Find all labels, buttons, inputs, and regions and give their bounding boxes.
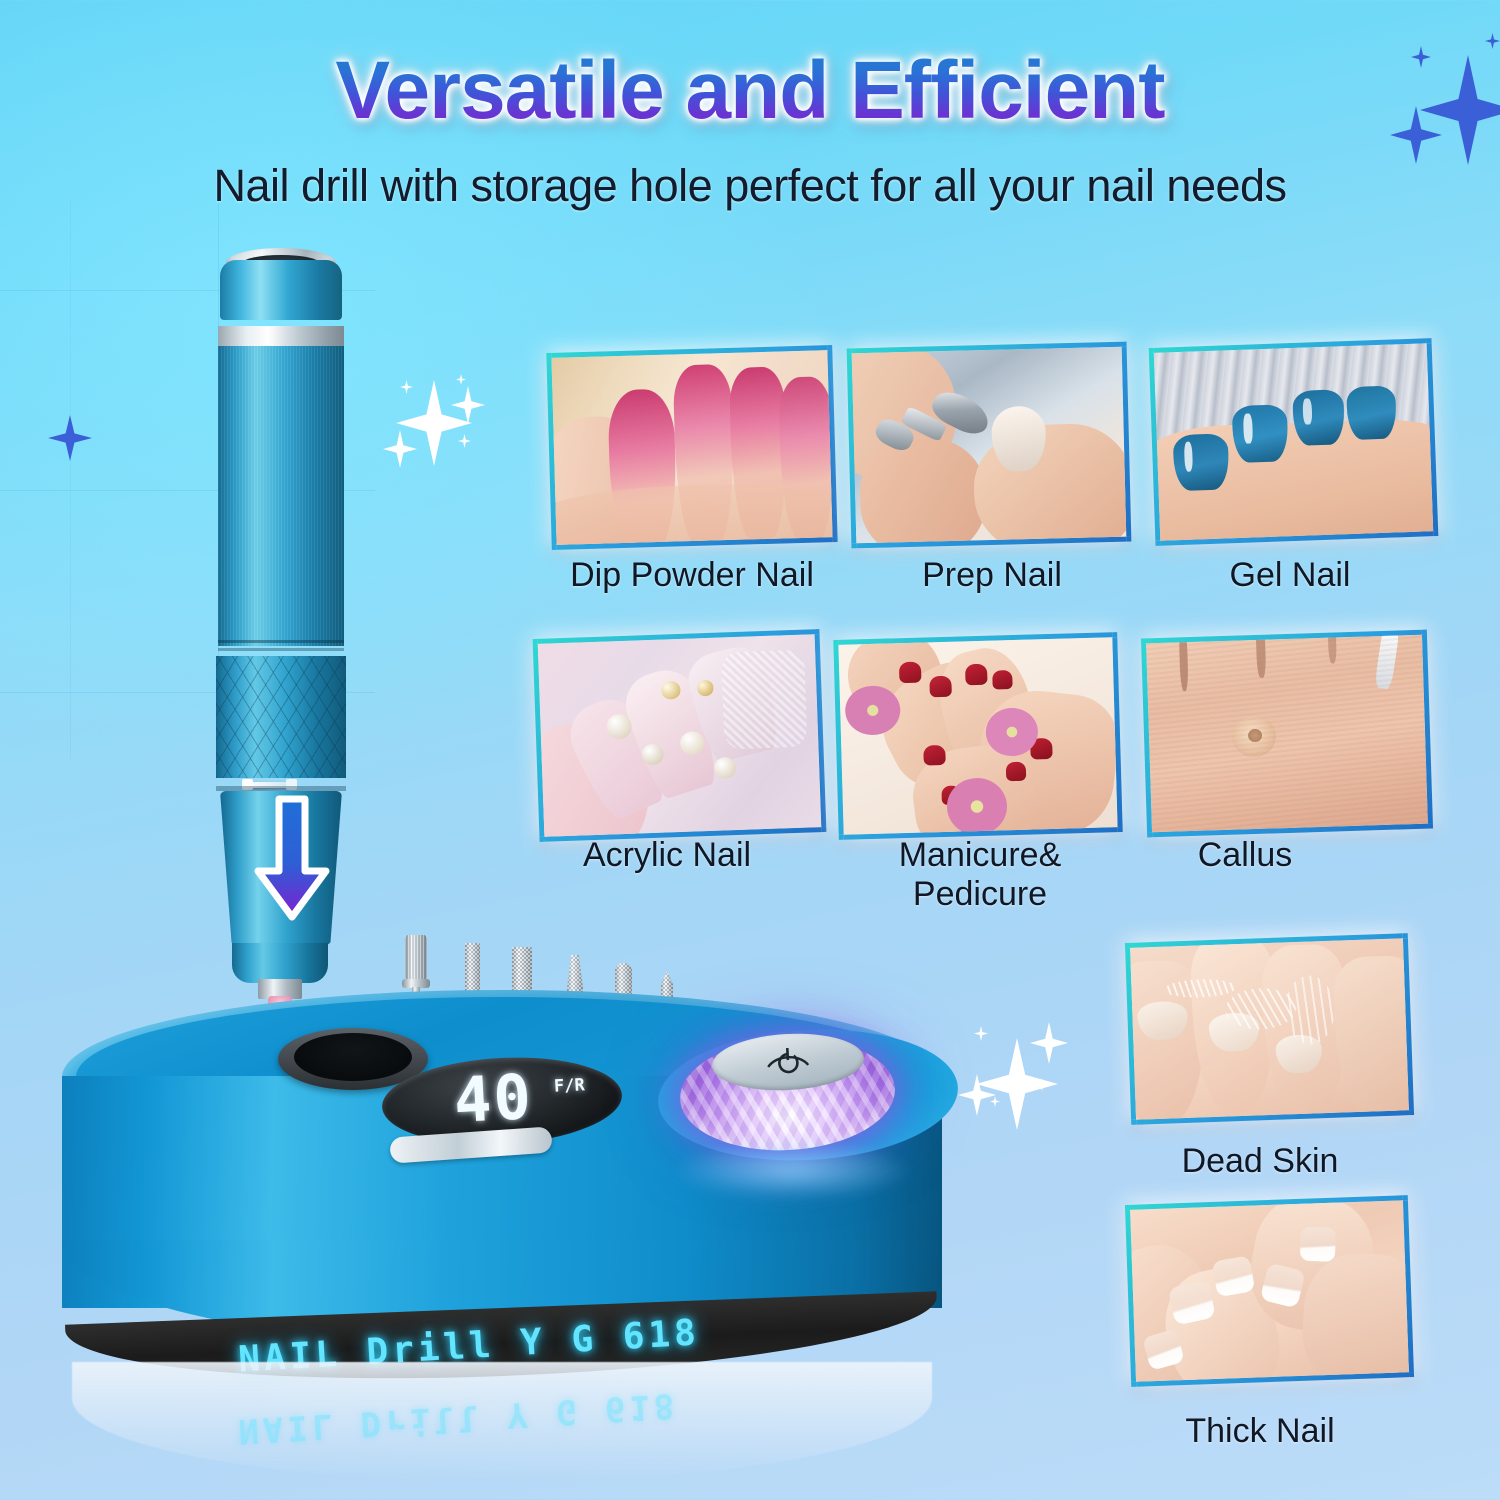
use-case-thumb-dip-powder[interactable] [546, 345, 837, 550]
caption-manicure-pedicure-line1: Manicure& [800, 836, 1160, 875]
use-case-thumb-manicure-pedicure[interactable] [833, 632, 1122, 840]
caption-acrylic: Acrylic Nail [487, 836, 847, 875]
use-case-thumb-callus[interactable] [1141, 630, 1433, 838]
nail-photo-thick-nail [1130, 1200, 1409, 1381]
product-infographic: Versatile and Efficient Nail drill with … [0, 0, 1500, 1500]
nail-drill-pen [190, 248, 400, 1038]
use-case-thumb-thick-nail[interactable] [1125, 1195, 1414, 1387]
down-arrow-icon [248, 793, 336, 923]
display-value: 40 [452, 1060, 534, 1137]
caption-manicure-pedicure-line2: Pedicure [800, 875, 1160, 914]
page-subtitle: Nail drill with storage hole perfect for… [0, 160, 1500, 212]
use-case-thumb-acrylic[interactable] [533, 629, 827, 842]
caption-dead-skin: Dead Skin [1110, 1142, 1410, 1181]
nail-photo-acrylic [538, 634, 822, 837]
page-title: Versatile and Efficient [0, 44, 1500, 138]
display-unit: F/R [553, 1075, 585, 1097]
caption-callus: Callus [1120, 836, 1370, 875]
use-case-thumb-prep[interactable] [847, 342, 1132, 549]
nail-photo-prep [852, 347, 1127, 544]
nail-photo-dip-powder [551, 350, 832, 545]
sparkle-icon-topright [1390, 30, 1500, 180]
nail-photo-callus [1146, 635, 1428, 833]
nail-photo-gel [1154, 343, 1433, 540]
sparkle-icon-right [948, 1022, 1088, 1154]
power-icon [761, 1039, 815, 1086]
nail-photo-dead-skin [1130, 938, 1409, 1119]
use-case-thumb-gel[interactable] [1149, 338, 1439, 546]
sparkle-icon-left [48, 415, 92, 461]
caption-thick-nail: Thick Nail [1110, 1412, 1410, 1451]
nail-drill-base: NAIL Drill Y G 618 NAIL Drill Y G 618 40… [62, 990, 942, 1410]
nail-photo-manicure-pedicure [838, 637, 1117, 835]
use-case-thumb-dead-skin[interactable] [1125, 933, 1414, 1125]
caption-gel: Gel Nail [1110, 556, 1470, 595]
